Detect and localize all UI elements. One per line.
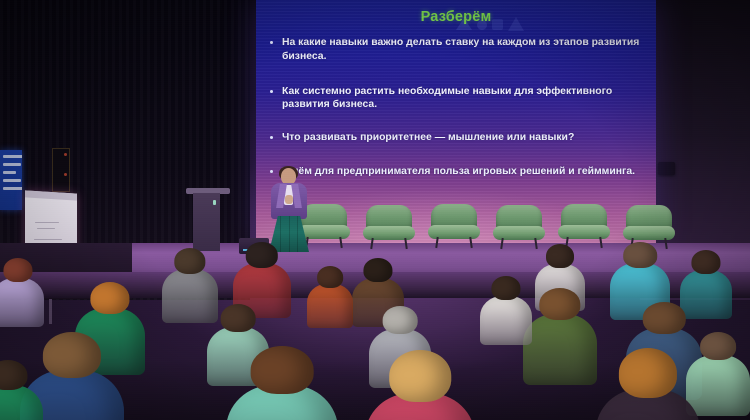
slide-bullet-2: Как системно растить необходимые навыки … — [266, 85, 648, 113]
attendee-head — [700, 332, 736, 360]
wall-speaker-icon — [658, 162, 675, 175]
attendee-head — [623, 242, 657, 268]
attendee-head — [90, 282, 129, 314]
attendee-head — [246, 242, 278, 268]
attendee-head — [317, 266, 343, 288]
attendee-head — [383, 306, 418, 334]
attendee-head — [251, 346, 314, 394]
attendee-head — [3, 258, 32, 282]
slide-title: Разберём — [256, 9, 656, 25]
attendee-head — [389, 350, 451, 402]
attendee-head — [691, 250, 720, 274]
attendee-head — [546, 244, 574, 268]
attendee-white-shirt — [480, 276, 532, 349]
audience-area — [0, 240, 750, 420]
attendee-head — [363, 258, 392, 282]
attendee-head — [174, 248, 205, 274]
attendee-head — [539, 288, 580, 320]
attendee-orange-top — [307, 266, 353, 332]
attendee-olive-tshirt — [523, 288, 597, 390]
wall-control-panel — [52, 148, 70, 192]
attendee-green-left — [0, 360, 43, 420]
attendee-curly-auburn — [596, 348, 700, 420]
attendee-head — [491, 276, 520, 300]
attendee-torso — [0, 278, 44, 327]
conference-photo: Разберём На какие навыки важно делать ст… — [0, 0, 750, 420]
attendee-head — [643, 302, 686, 334]
attendee-blonde-strip — [365, 350, 475, 420]
attendee-head — [43, 332, 101, 378]
slide-bullet-1: На какие навыки важно делать ставку на к… — [266, 36, 648, 64]
info-monitor-screen — [0, 150, 22, 210]
attendee-mint-jacket — [226, 346, 338, 420]
attendee-torso — [307, 284, 353, 328]
attendee-lavender — [0, 258, 44, 331]
attendee-torso — [480, 296, 532, 345]
speaker-hands-microphone — [285, 195, 293, 204]
attendee-head — [619, 348, 677, 398]
attendee-torso — [523, 314, 597, 384]
attendee-head — [221, 304, 256, 332]
slide-bullet-3: Что развивать приоритетнее — мышление ил… — [266, 131, 648, 145]
attendee-head — [0, 360, 28, 390]
